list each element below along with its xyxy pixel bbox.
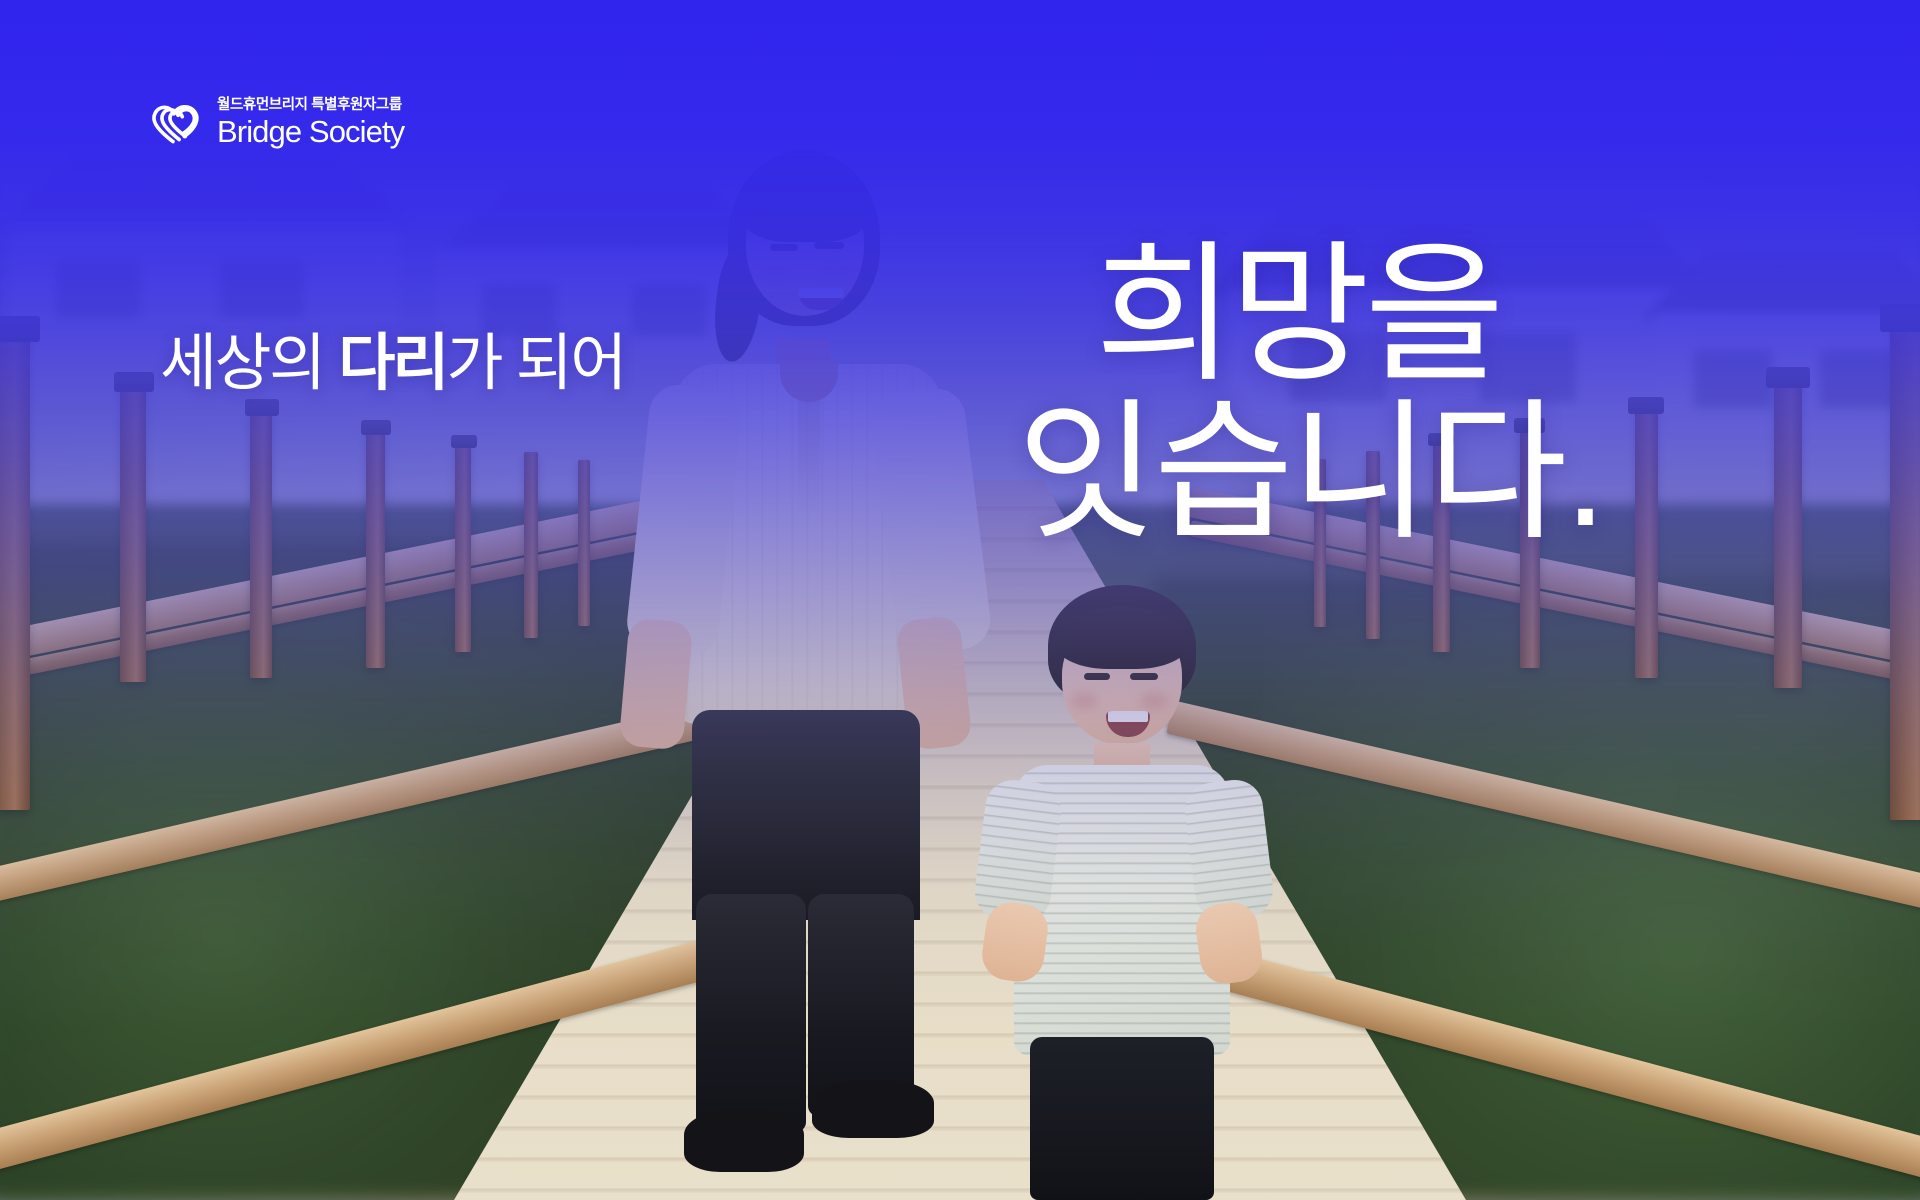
headline-right-line1: 희망을 [1095, 236, 1604, 394]
headline-right-line2: 잇습니다. [1017, 394, 1604, 552]
headline-left: 세상의 다리가 되어 [160, 333, 625, 395]
brand-korean-subtitle: 월드휴먼브리지 특별후원자그룹 [217, 98, 404, 114]
bridge-heart-logo-icon [143, 92, 205, 154]
hero-banner: 월드휴먼브리지 특별후원자그룹 Bridge Society 세상의 다리가 되… [0, 0, 1920, 1200]
brand-gradient-tint [0, 0, 1920, 1200]
headline-left-suffix: 가 되어 [446, 329, 624, 398]
brand-logo-text: 월드휴먼브리지 특별후원자그룹 Bridge Society [217, 98, 404, 148]
brand-logo[interactable]: 월드휴먼브리지 특별후원자그룹 Bridge Society [143, 92, 404, 154]
headline-left-prefix: 세상의 [160, 329, 338, 398]
headline-left-emphasis: 다리 [338, 329, 446, 398]
headline-right: 희망을 잇습니다. [1095, 236, 1604, 552]
brand-name: Bridge Society [217, 116, 404, 148]
